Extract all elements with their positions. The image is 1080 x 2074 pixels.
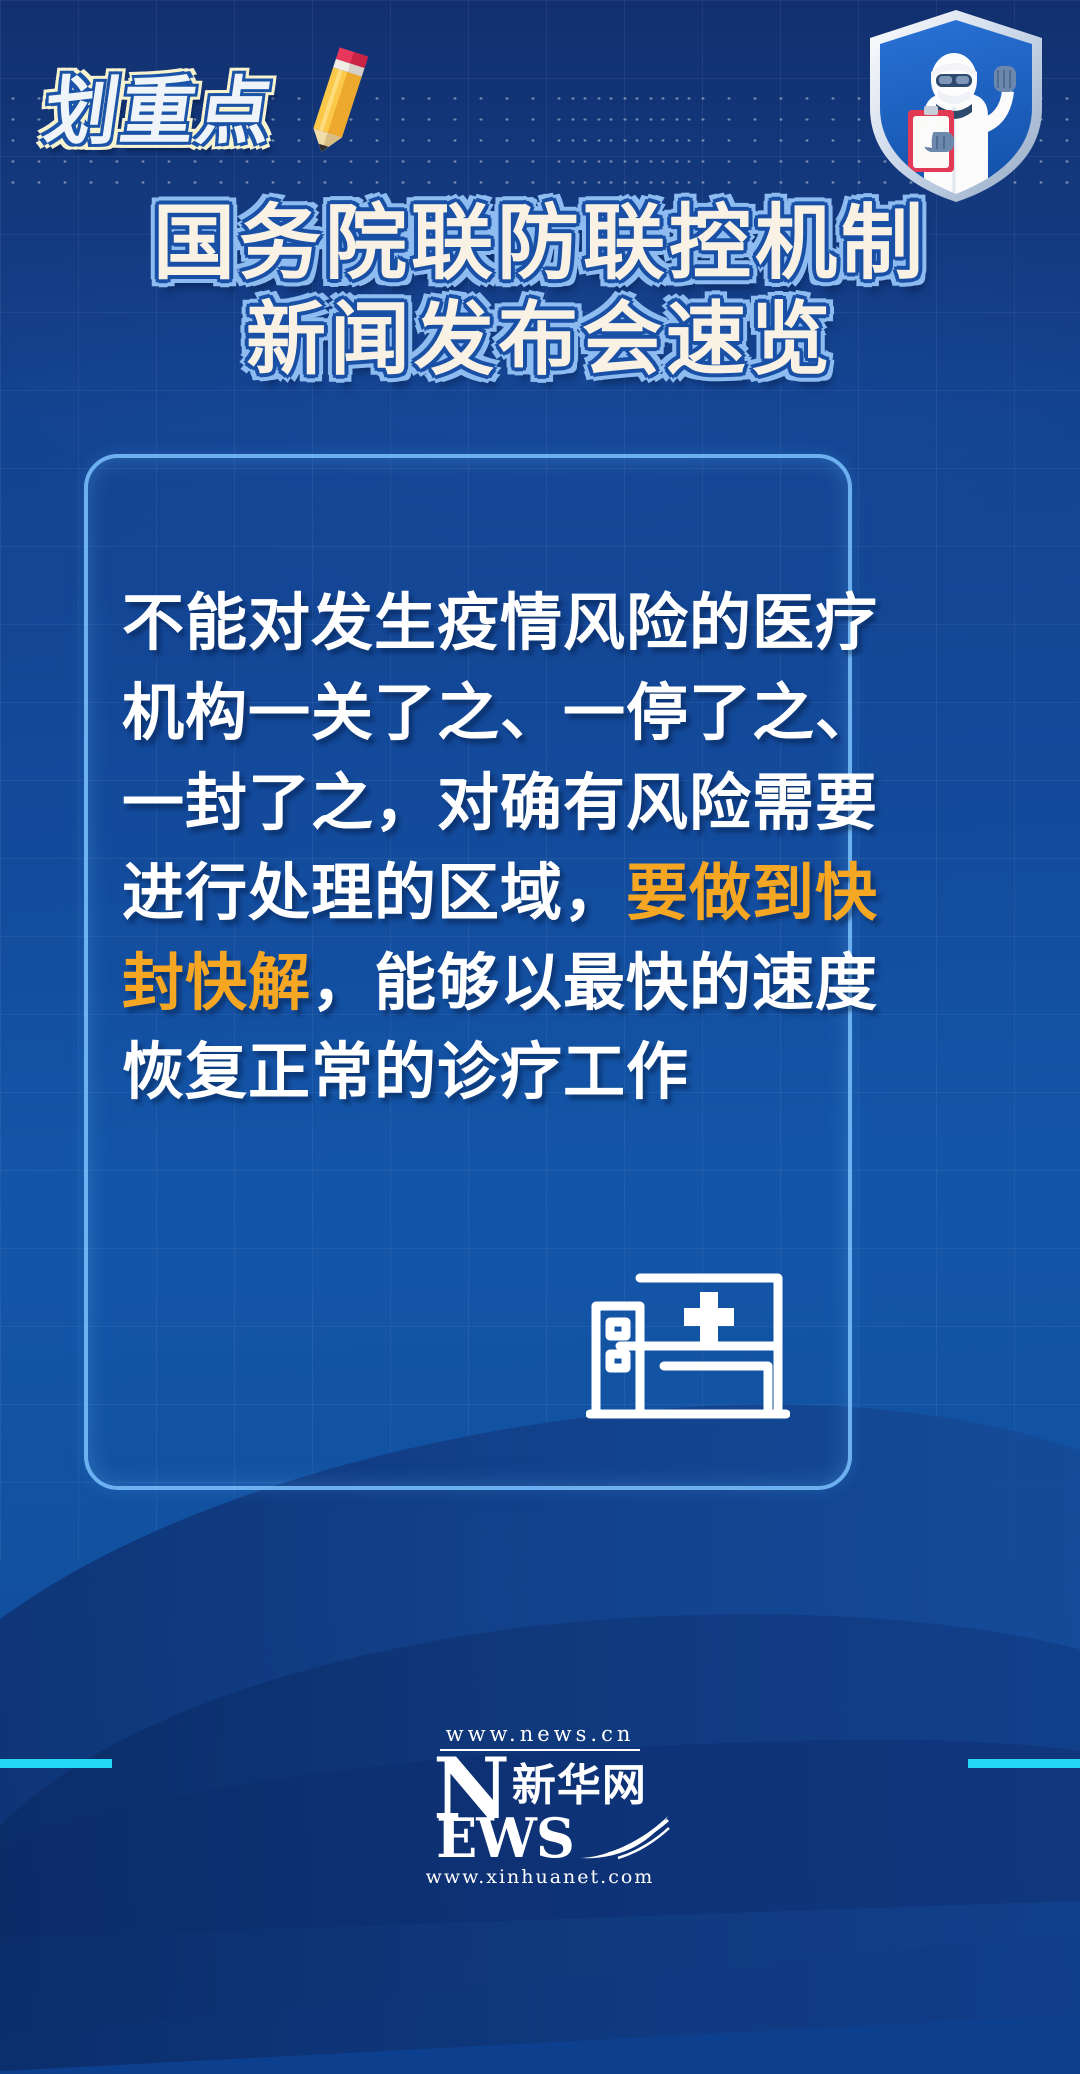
quote-line: 一封了之，对确有风险需要: [122, 758, 822, 848]
hospital-building-icon: [586, 1262, 790, 1422]
logo-news-row: EWS: [410, 1814, 670, 1860]
shield-medical-worker-icon: [846, 4, 1066, 204]
pencil-icon: [294, 34, 386, 162]
quote-line: 机构一关了之、一停了之、: [122, 668, 822, 758]
quote-highlight-text: 封快解: [122, 946, 311, 1019]
quote-line: 恢复正常的诊疗工作: [122, 1027, 822, 1117]
quote-line: 进行处理的区域，要做到快: [122, 848, 822, 938]
quote-plain-text: 不能对发生疫情风险的医疗: [122, 586, 878, 659]
swoosh-icon: [578, 1814, 670, 1860]
quote-plain-text: ，能够以最快的速度: [311, 946, 878, 1019]
page-title: 国务院联防联控机制 新闻发布会速览: [0, 196, 1080, 387]
xinhua-logo: www.news.cn N 新华网 EWS www.xinhuanet.com: [0, 1730, 1080, 1880]
quote-line: 封快解，能够以最快的速度: [122, 938, 822, 1028]
quote-plain-text: 一封了之，对确有风险需要: [122, 766, 878, 839]
quote-line: 不能对发生疫情风险的医疗: [122, 578, 822, 668]
logo-chinese-name: 新华网: [512, 1749, 647, 1813]
quote-plain-text: 恢复正常的诊疗工作: [122, 1035, 689, 1108]
poster-root: 划重点: [0, 0, 1080, 1920]
title-line-1: 国务院联防联控机制: [0, 196, 1080, 293]
quote-plain-text: 机构一关了之、一停了之、: [122, 676, 878, 749]
title-line-2: 新闻发布会速览: [0, 293, 1080, 387]
logo-news-text: EWS: [436, 1817, 574, 1860]
quote-plain-text: 进行处理的区域，: [122, 856, 626, 929]
quote-text-block: 不能对发生疫情风险的医疗机构一关了之、一停了之、一封了之，对确有风险需要进行处理…: [122, 578, 822, 1117]
quote-highlight-text: 要做到快: [626, 856, 878, 929]
